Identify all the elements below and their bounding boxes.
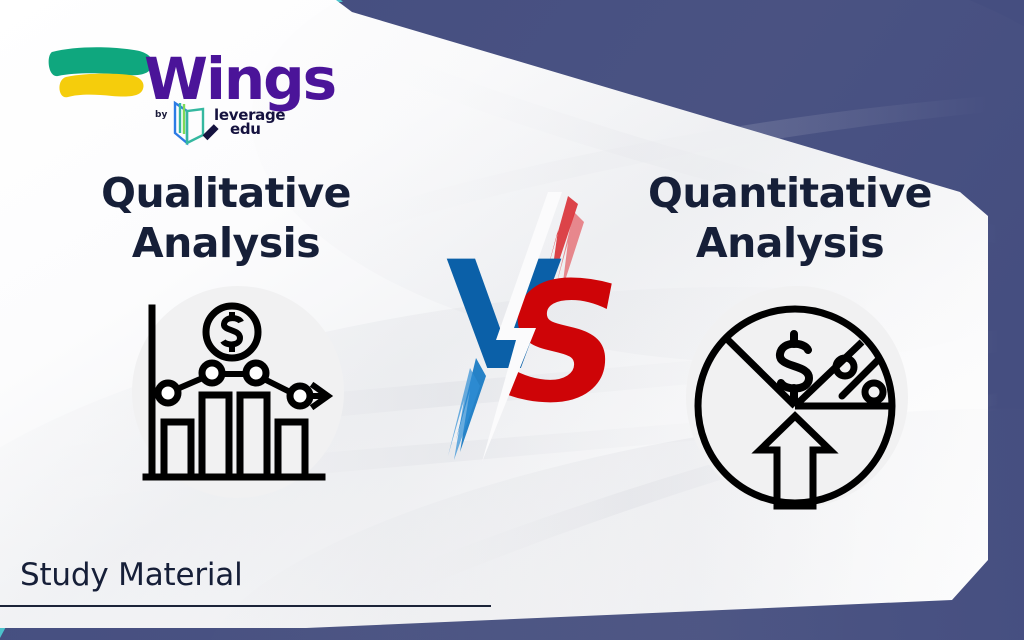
page-title-qualitative: Qualitative Analysis [40, 168, 412, 268]
versus-graphic: V S [440, 190, 620, 465]
bar-chart-dollar-trend-icon [140, 300, 340, 495]
poster-content: Wings by leverage edu Qualita [0, 0, 1024, 640]
qualitative-title-line2: Analysis [40, 218, 412, 268]
footer-divider [0, 605, 491, 607]
footer-label: Study Material [20, 557, 243, 593]
pie-chart-dollar-percent-arrow-icon [690, 298, 905, 513]
page-title-quantitative: Quantitative Analysis [604, 168, 976, 268]
quantitative-title-line1: Quantitative [648, 169, 932, 217]
brand-logo[interactable]: Wings by leverage edu [48, 24, 288, 149]
sublogo-line2: edu [230, 122, 285, 136]
logo-by-label: by [155, 110, 167, 120]
qualitative-title-line1: Qualitative [101, 169, 351, 217]
poster-canvas: Wings by leverage edu Qualita [0, 0, 1024, 640]
leverage-edu-sublogo: leverage edu [169, 99, 213, 152]
wings-swoosh-icon [48, 44, 158, 106]
pen-nib-icon [201, 121, 231, 145]
quantitative-title-line2: Analysis [604, 218, 976, 268]
